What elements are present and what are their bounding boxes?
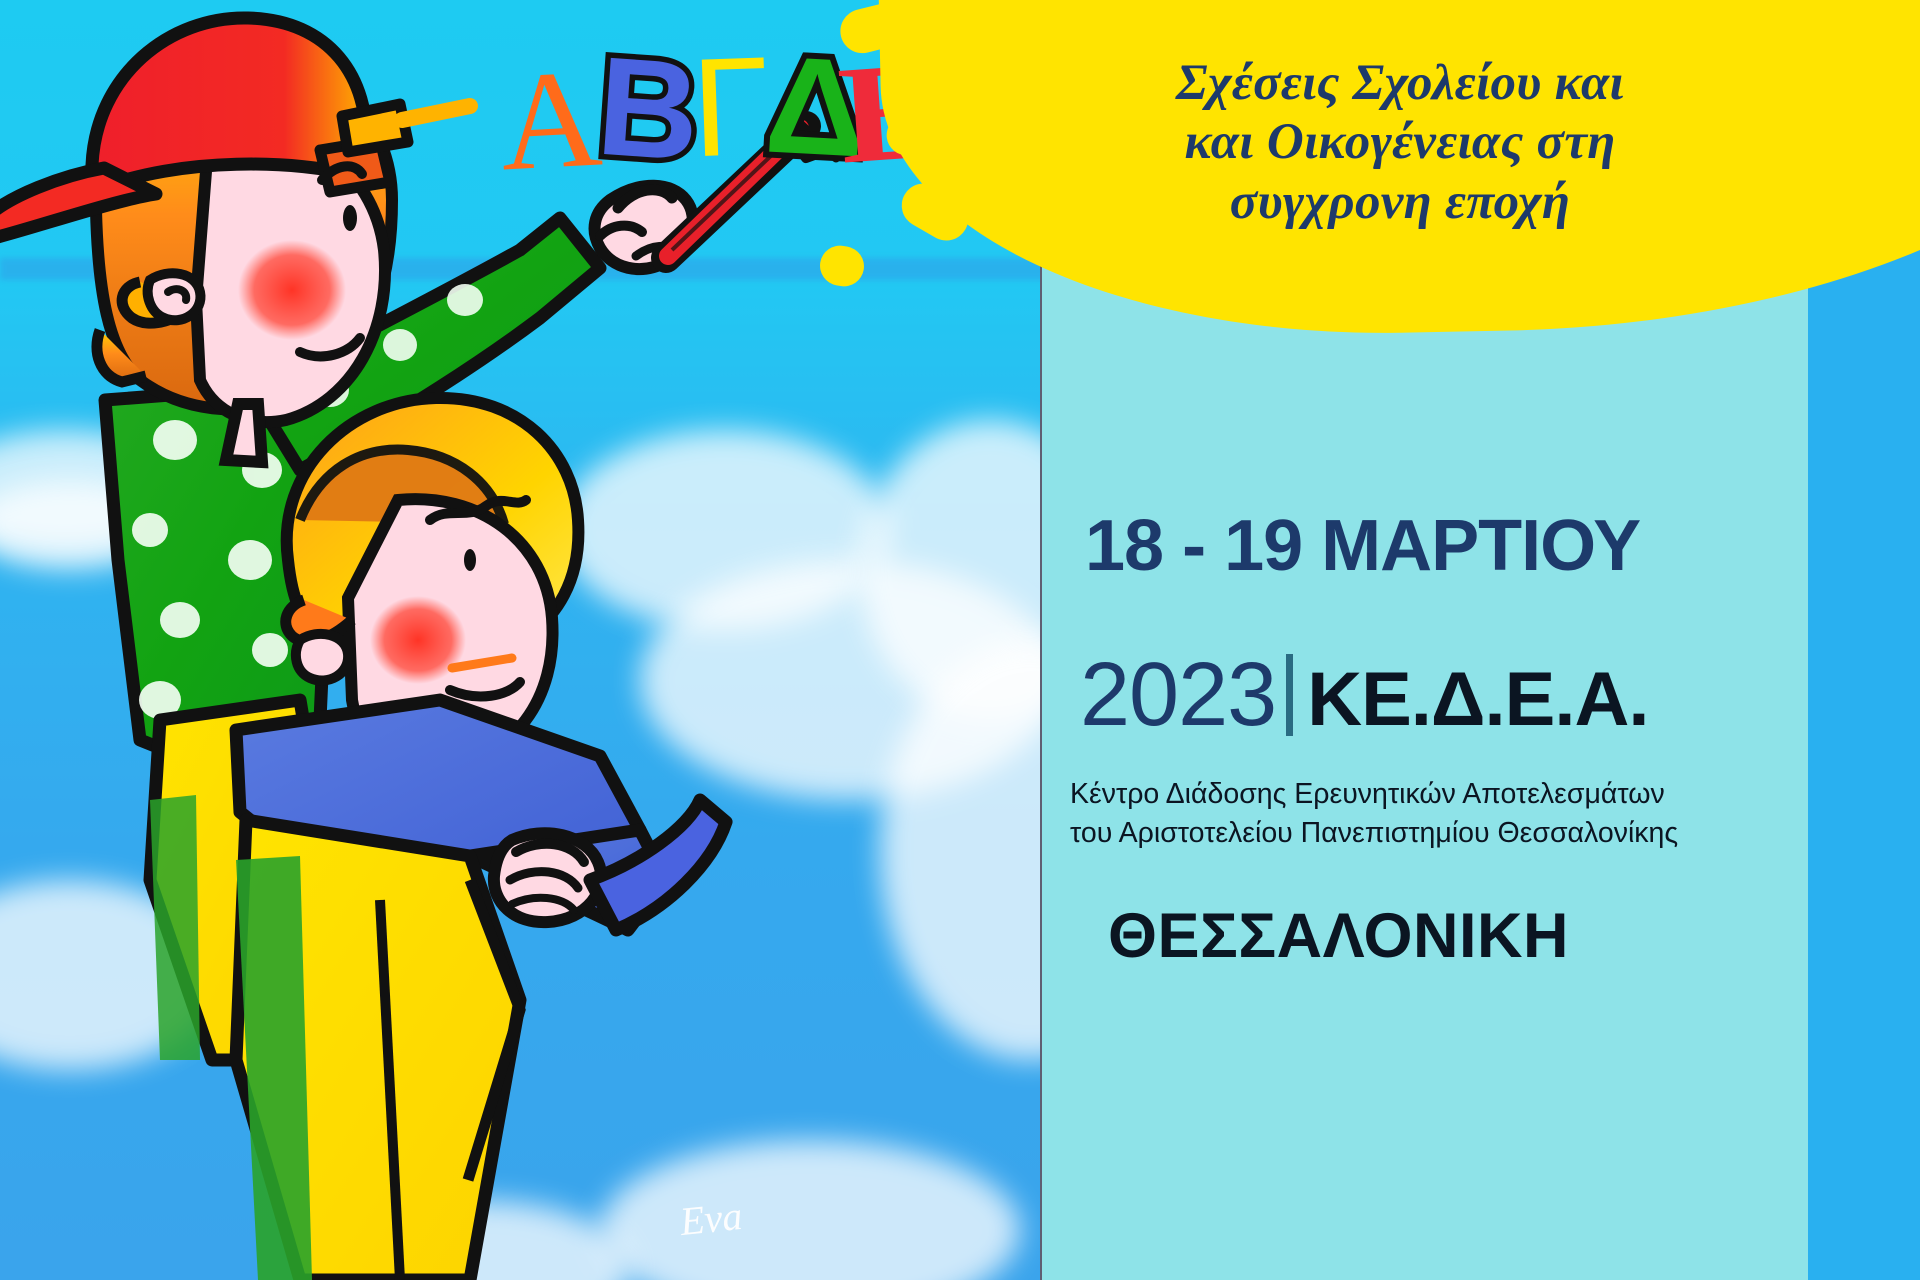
event-dates: 18 - 19 ΜΑΡΤΙΟΥ	[1085, 505, 1725, 587]
conference-poster: Α Β Γ Δ Ε Σχέσεις Σχολείου και και Οικογ…	[0, 0, 1920, 1280]
venue-acronym: ΚΕ.Δ.Ε.Α.	[1307, 662, 1648, 738]
divider-bar	[1286, 654, 1293, 736]
alphabet-letter-alpha: Α	[496, 37, 605, 203]
alphabet-letter-gamma: Γ	[689, 25, 772, 190]
year-venue-row: 2023 ΚΕ.Δ.Ε.Α.	[1080, 650, 1648, 740]
bottom-boy	[236, 398, 726, 1280]
venue-description-line-1: Κέντρο Διάδοσης Ερευνητικών Αποτελεσμάτω…	[1070, 775, 1800, 814]
alphabet-letter-beta: Β	[592, 25, 704, 194]
headline-text: Σχέσεις Σχολείου και και Οικογένειας στη…	[1020, 28, 1780, 258]
headline-line-1: Σχέσεις Σχολείου και	[1176, 54, 1624, 113]
event-year: 2023	[1080, 650, 1276, 740]
venue-description: Κέντρο Διάδοσης Ερευνητικών Αποτελεσμάτω…	[1070, 775, 1800, 853]
headline-line-2: και Οικογένειας στη	[1184, 113, 1615, 172]
artist-signature: Eva	[678, 1192, 745, 1245]
venue-description-line-2: του Αριστοτελείου Πανεπιστημίου Θεσσαλον…	[1070, 814, 1800, 853]
headline-line-3: συγχρονη εποχή	[1230, 173, 1570, 232]
event-city: ΘΕΣΣΑΛΟΝΙΚΗ	[1108, 900, 1569, 972]
